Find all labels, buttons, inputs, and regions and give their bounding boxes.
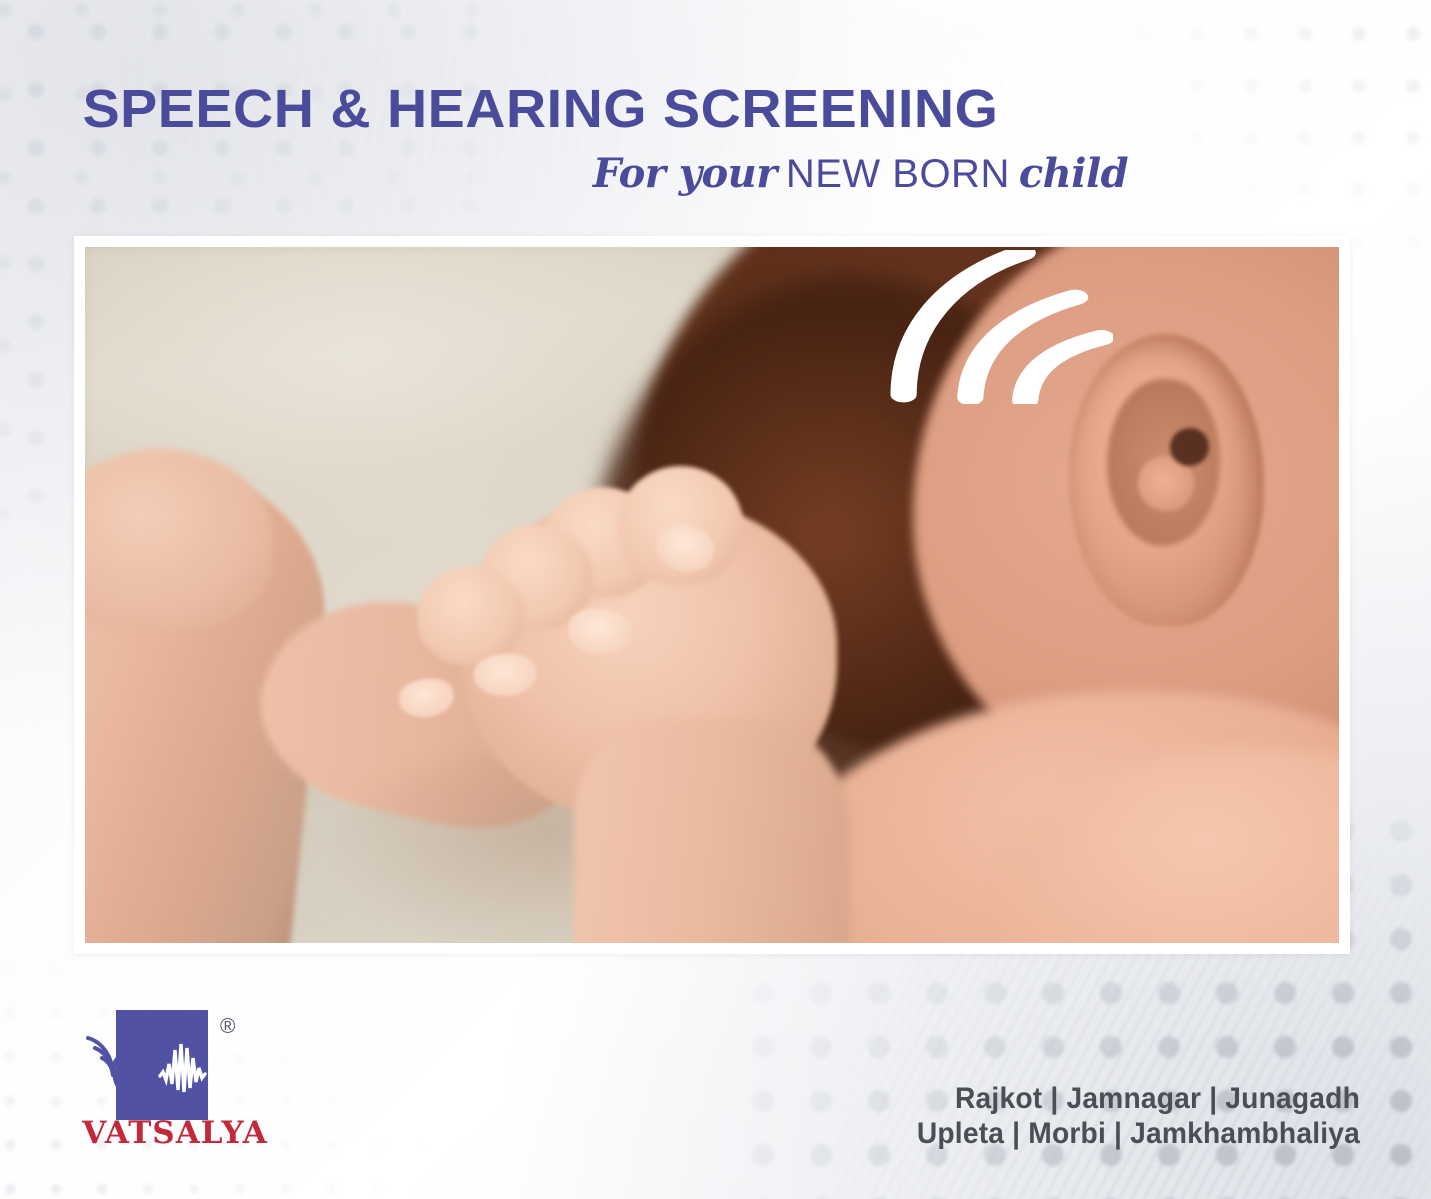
sound-wave-icon [875, 250, 1113, 403]
locations-line-2: Upleta | Morbi | Jamkhambhaliya [683, 1117, 1360, 1152]
headline-subtitle: For yourNEW BORNchild [0, 150, 1431, 197]
headline-title: SPEECH & HEARING SCREENING [82, 82, 1348, 136]
subtitle-script-suffix: child [1019, 150, 1128, 197]
baby-knuckle [417, 567, 524, 664]
photo-frame [74, 236, 1350, 954]
ear-with-sound-waves-icon [88, 1038, 128, 1090]
poster-canvas: SPEECH & HEARING SCREENING For yourNEW B… [0, 0, 1431, 1199]
locations-line-1: Rajkot | Jamnagar | Junagadh [683, 1082, 1360, 1117]
brand-logo[interactable]: ® VATSALYA [72, 1004, 282, 1154]
brand-name: VATSALYA [80, 1118, 270, 1149]
locations-list: Rajkot | Jamnagar | Junagadh Upleta | Mo… [640, 1082, 1360, 1152]
headline-block: SPEECH & HEARING SCREENING For yourNEW B… [0, 82, 1431, 197]
subtitle-caps: NEW BORN [777, 152, 1019, 196]
hero-photo [85, 247, 1339, 943]
registered-trademark-icon: ® [220, 1016, 235, 1037]
baby-wrist [574, 720, 850, 943]
subtitle-script-prefix: For your [593, 150, 777, 197]
logo-mark-icon [72, 1004, 282, 1130]
